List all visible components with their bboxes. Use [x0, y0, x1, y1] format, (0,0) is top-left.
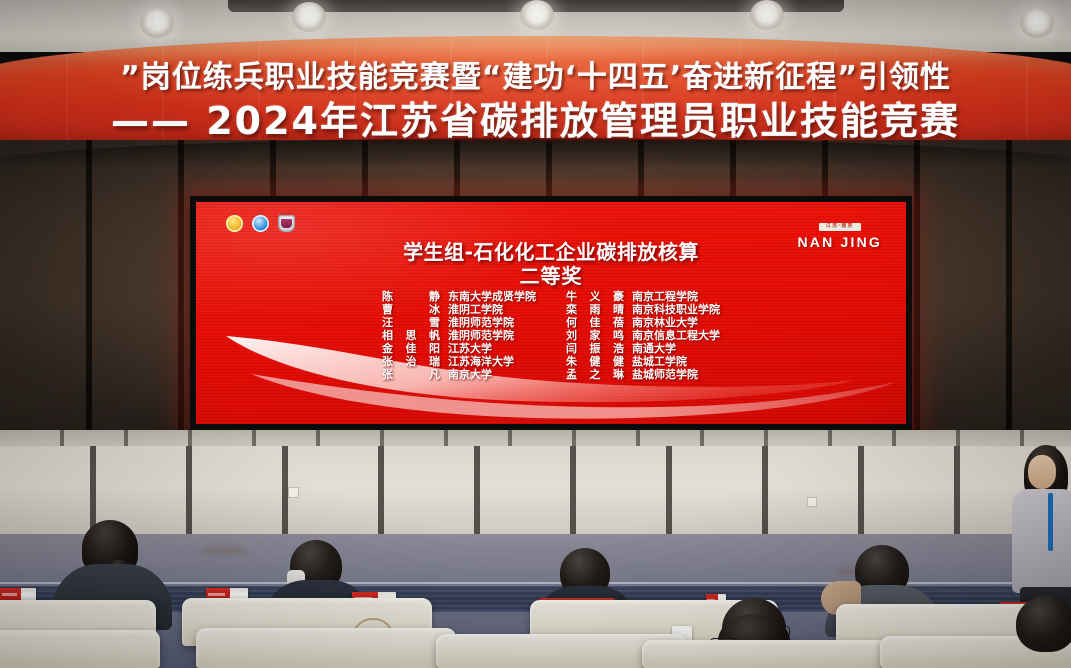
torso: [1012, 489, 1071, 593]
winner-row: 刘家鸣南京信息工程大学: [566, 327, 720, 340]
seat[interactable]: [0, 630, 160, 668]
shield-emblem-icon: [278, 215, 295, 232]
winner-row: 闫振浩南通大学: [566, 340, 720, 353]
head: [1016, 596, 1071, 652]
organization-emblems: [226, 215, 295, 232]
winner-row: 金佳阳江苏大学: [382, 340, 536, 353]
winner-row: 陈 静东南大学成贤学院: [382, 288, 536, 301]
led-screen: 江苏·南京 NAN JING 学生组-石化化工企业碳排放核算 二等奖 陈 静东南…: [196, 202, 906, 424]
lower-wall-panels: [0, 446, 1071, 538]
wall-socket-icon: [807, 497, 817, 507]
floor-scuff: [200, 546, 248, 555]
winner-name: 孟之琳: [566, 366, 624, 382]
winner-row: 栾雨晴南京科技职业学院: [566, 301, 720, 314]
winner-row: 朱健健盐城工学院: [566, 353, 720, 366]
gold-emblem-icon: [226, 215, 243, 232]
winner-row: 何佳蓓南京林业大学: [566, 314, 720, 327]
winner-column-left: 陈 静东南大学成贤学院曹 冰淮阴工学院汪 雪淮阴师范学院相思帆淮阴师范学院金佳阳…: [382, 288, 536, 379]
winner-row: 牛义豪南京工程学院: [566, 288, 720, 301]
nanjing-logo-cn: 江苏·南京: [819, 223, 861, 231]
winner-row: 相思帆淮阴师范学院: [382, 327, 536, 340]
banner-line-2: —— 2024年江苏省碳排放管理员职业技能竞赛: [111, 90, 960, 145]
led-screen-frame: 江苏·南京 NAN JING 学生组-石化化工企业碳排放核算 二等奖 陈 静东南…: [190, 196, 912, 430]
winner-column-right: 牛义豪南京工程学院栾雨晴南京科技职业学院何佳蓓南京林业大学刘家鸣南京信息工程大学…: [566, 288, 720, 379]
seat[interactable]: [196, 628, 456, 668]
banner-text-block: ”岗位练兵职业技能竞赛暨“建功‘十四五’奋进新征程”引领性 —— 2024年江苏…: [0, 0, 1071, 120]
winner-name: 张 凡: [382, 366, 440, 382]
seat[interactable]: [642, 640, 898, 668]
face: [1028, 455, 1056, 489]
winner-row: 汪 雪淮阴师范学院: [382, 314, 536, 327]
winner-row: 曹 冰淮阴工学院: [382, 301, 536, 314]
winner-row: 孟之琳盐城师范学院: [566, 366, 720, 379]
blue-globe-emblem-icon: [252, 215, 269, 232]
award-rank: 二等奖: [196, 260, 906, 289]
winner-school: 南京大学: [448, 366, 492, 382]
winner-lists: 陈 静东南大学成贤学院曹 冰淮阴工学院汪 雪淮阴师范学院相思帆淮阴师范学院金佳阳…: [196, 288, 906, 379]
wall-socket-icon: [288, 487, 299, 498]
winner-row: 张治瑞江苏海洋大学: [382, 353, 536, 366]
photo-scene: ”岗位练兵职业技能竞赛暨“建功‘十四五’奋进新征程”引领性 —— 2024年江苏…: [0, 0, 1071, 668]
blue-lanyard: [1048, 493, 1053, 551]
winner-school: 盐城师范学院: [632, 366, 698, 382]
winner-row: 张 凡南京大学: [382, 366, 536, 379]
